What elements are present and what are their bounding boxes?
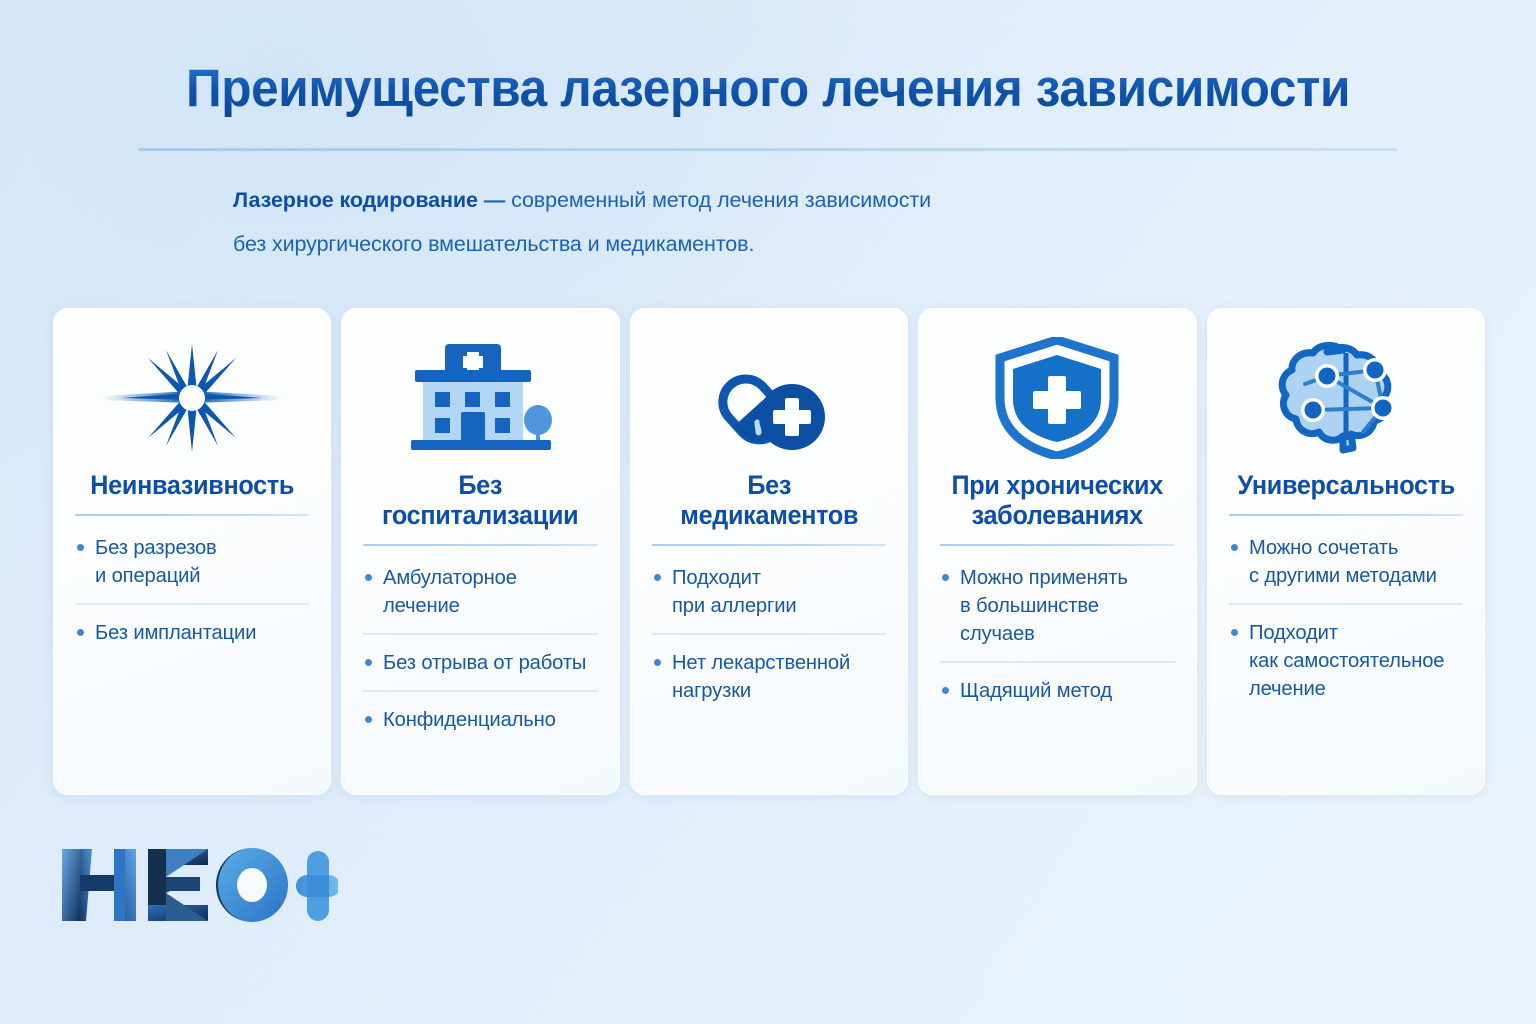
list-item: Подходит при аллергии bbox=[652, 550, 886, 633]
benefit-list: Амбулаторное лечение Без отрыва от работ… bbox=[363, 550, 597, 747]
bullet-dot-icon bbox=[365, 574, 372, 581]
neo-plus-logo[interactable] bbox=[58, 837, 338, 933]
list-item-text: Амбулаторное лечение bbox=[383, 564, 517, 620]
bullet-dot-icon bbox=[654, 659, 661, 666]
subtitle-rest: современный метод лечения зависимости bbox=[511, 188, 931, 212]
list-item-text: Без отрыва от работы bbox=[383, 649, 586, 677]
list-item-text: Можно сочетать с другими методами bbox=[1249, 534, 1437, 590]
list-item: Конфиденциально bbox=[363, 690, 597, 747]
list-item-text: Подходит при аллергии bbox=[672, 564, 796, 620]
list-item-text: Можно применять в большинстве случаев bbox=[960, 564, 1171, 648]
benefit-card-universalnost[interactable]: Универсальность Можно сочетать с другими… bbox=[1207, 308, 1485, 795]
card-title-divider bbox=[363, 544, 597, 546]
list-item-text: Без разрезов и операций bbox=[95, 534, 217, 590]
list-item: Нет лекарственной нагрузки bbox=[652, 633, 886, 718]
pill-capsule-icon bbox=[652, 334, 886, 462]
benefit-card-neinvazivnost[interactable]: Неинвазивность Без разрезов и операций Б… bbox=[53, 308, 331, 795]
bullet-dot-icon bbox=[77, 629, 84, 636]
subtitle: Лазерное кодирование — современный метод… bbox=[233, 178, 1213, 266]
bullet-dot-icon bbox=[1231, 544, 1238, 551]
card-title: При хронических заболеваниях bbox=[946, 470, 1169, 530]
laser-burst-icon bbox=[75, 334, 309, 462]
list-item: Амбулаторное лечение bbox=[363, 550, 597, 633]
list-item-text: Нет лекарственной нагрузки bbox=[672, 649, 850, 705]
bullet-dot-icon bbox=[77, 544, 84, 551]
subtitle-line2: без хирургического вмешательства и медик… bbox=[233, 232, 754, 256]
bullet-dot-icon bbox=[654, 574, 661, 581]
list-item: Без отрыва от работы bbox=[363, 633, 597, 690]
bullet-dot-icon bbox=[1231, 629, 1238, 636]
benefit-list: Можно применять в большинстве случаев Ща… bbox=[940, 550, 1174, 718]
card-title-divider bbox=[940, 544, 1174, 546]
subtitle-dash: — bbox=[478, 188, 511, 212]
list-item-text: Щадящий метод bbox=[960, 677, 1112, 705]
bullet-dot-icon bbox=[365, 716, 372, 723]
card-title: Без госпитализации bbox=[369, 470, 592, 530]
list-item: Можно применять в большинстве случаев bbox=[940, 550, 1174, 661]
benefit-card-hronicheskie[interactable]: При хронических заболеваниях Можно приме… bbox=[918, 308, 1196, 795]
shield-cross-icon bbox=[940, 334, 1174, 462]
benefit-card-row: Неинвазивность Без разрезов и операций Б… bbox=[53, 308, 1485, 795]
page-title: Преимущества лазерного лечения зависимос… bbox=[50, 58, 1486, 119]
list-item-text: Без имплантации bbox=[95, 619, 256, 647]
card-title: Универсальность bbox=[1234, 470, 1457, 500]
benefit-list: Подходит при аллергии Нет лекарственной … bbox=[652, 550, 886, 718]
list-item-text: Подходит как самостоятельное лечение bbox=[1249, 619, 1444, 703]
benefit-card-bez-medikamentov[interactable]: Без медикаментов Подходит при аллергии Н… bbox=[630, 308, 908, 795]
card-title-divider bbox=[1229, 514, 1463, 516]
list-item: Можно сочетать с другими методами bbox=[1229, 520, 1463, 603]
list-item: Щадящий метод bbox=[940, 661, 1174, 718]
benefit-list: Можно сочетать с другими методами Подход… bbox=[1229, 520, 1463, 716]
bullet-dot-icon bbox=[942, 574, 949, 581]
brain-network-icon bbox=[1229, 334, 1463, 462]
title-divider bbox=[138, 148, 1398, 151]
bullet-dot-icon bbox=[365, 659, 372, 666]
list-item: Без разрезов и операций bbox=[75, 520, 309, 603]
card-title: Без медикаментов bbox=[658, 470, 881, 530]
infographic-canvas: Преимущества лазерного лечения зависимос… bbox=[0, 0, 1536, 1024]
benefit-list: Без разрезов и операций Без имплантации bbox=[75, 520, 309, 660]
list-item-text: Конфиденциально bbox=[383, 706, 556, 734]
hospital-building-icon bbox=[363, 334, 597, 462]
card-title: Неинвазивность bbox=[81, 470, 304, 500]
benefit-card-bez-gospitalizacii[interactable]: Без госпитализации Амбулаторное лечение … bbox=[341, 308, 619, 795]
subtitle-strong: Лазерное кодирование bbox=[233, 188, 478, 212]
list-item: Без имплантации bbox=[75, 603, 309, 660]
bullet-dot-icon bbox=[942, 687, 949, 694]
list-item: Подходит как самостоятельное лечение bbox=[1229, 603, 1463, 716]
card-title-divider bbox=[652, 544, 886, 546]
card-title-divider bbox=[75, 514, 309, 516]
